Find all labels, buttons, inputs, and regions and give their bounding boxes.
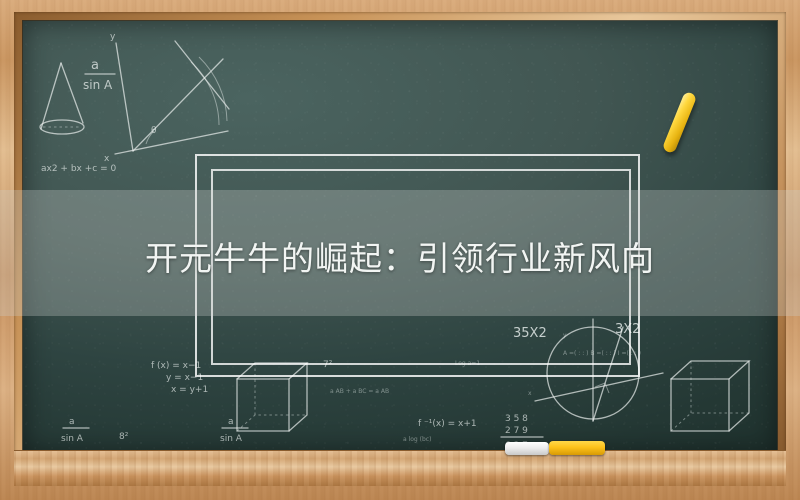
svg-text:f (x) = x−1: f (x) = x−1: [151, 361, 201, 371]
svg-text:x: x: [104, 154, 110, 164]
svg-text:x = y+1: x = y+1: [171, 385, 208, 395]
fraction-a-over-sinA-topleft: a sin A: [83, 58, 115, 92]
svg-text:y: y: [110, 32, 116, 42]
cube-right: [671, 361, 749, 431]
cone-drawing: [40, 63, 84, 134]
inverse-function: f ⁻¹(x) = x+1: [418, 419, 477, 429]
svg-text:a: a: [91, 58, 99, 73]
svg-text:sin A: sin A: [61, 434, 84, 444]
quadratic-equation: ax2 + bx +c = 0: [41, 164, 116, 174]
power-eight: 8²: [119, 432, 129, 442]
fraction-a-over-sinA-1: a sin A: [61, 417, 89, 444]
axis-angle-drawing: y x θ: [104, 32, 229, 164]
page-title: 开元牛牛的崛起：引领行业新风向: [0, 232, 800, 280]
chalk-white-icon: [505, 442, 549, 455]
svg-text:a: a: [228, 417, 234, 427]
chalk-yellow-icon: [549, 441, 605, 455]
chalkboard-banner: a sin A y x θ ax2 + bx +c = 0: [0, 0, 800, 500]
chalk-ledge: [14, 450, 786, 486]
fraction-a-over-sinA-2: a sin A: [220, 417, 248, 444]
svg-text:f ⁻¹(x) = x+1: f ⁻¹(x) = x+1: [418, 419, 477, 429]
svg-text:θ: θ: [151, 126, 157, 136]
log-expression: a log (bc): [403, 436, 431, 443]
svg-text:x: x: [528, 390, 532, 397]
svg-text:sin A: sin A: [83, 78, 113, 92]
svg-text:3 5 8: 3 5 8: [505, 414, 528, 424]
tiny-expression-left: a AB + a BC = a AB: [330, 388, 389, 395]
svg-text:sin A: sin A: [220, 434, 243, 444]
svg-text:a: a: [69, 417, 75, 427]
svg-text:2 7 9: 2 7 9: [505, 426, 528, 436]
